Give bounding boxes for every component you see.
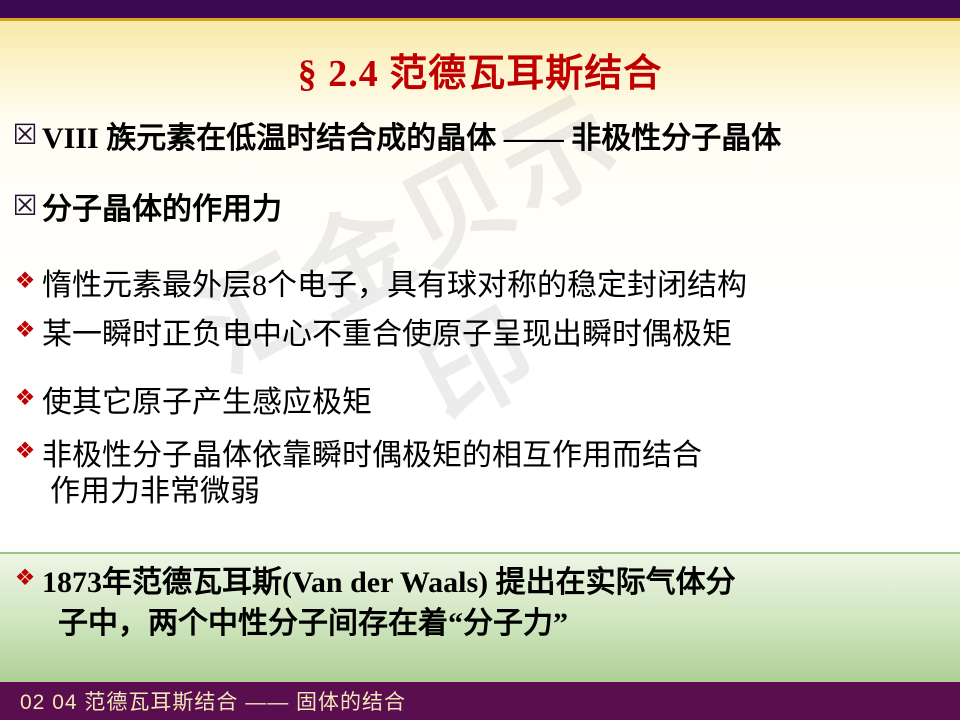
slide-canvas: 汇金贝示印 § 2.4 范德瓦耳斯结合 ☒ VIII 族元素在低温时结合成的晶体… (0, 0, 960, 720)
bullet-line-7: ❖ 1873年范德瓦耳斯(Van der Waals) 提出在实际气体分 (0, 566, 960, 601)
bullet-text-3: 惰性元素最外层8个电子，具有球对称的稳定封闭结构 (42, 269, 950, 304)
bullet-text-7-continued: 子中，两个中性分子间存在着“分子力” (58, 607, 950, 642)
bullet-line-5: ❖ 使其它原子产生感应极矩 (0, 386, 960, 421)
bullet-text-1: VIII 族元素在低温时结合成的晶体 —— 非极性分子晶体 (42, 122, 950, 157)
bullet-line-7-continued: 子中，两个中性分子间存在着“分子力” (0, 607, 960, 642)
bullet-line-1: ☒ VIII 族元素在低温时结合成的晶体 —— 非极性分子晶体 (0, 122, 960, 157)
top-decoration-bar (0, 0, 960, 18)
slide-body-lower: ❖ 1873年范德瓦耳斯(Van der Waals) 提出在实际气体分 子中，… (0, 566, 960, 641)
footer-label: 02 04 范德瓦耳斯结合 —— 固体的结合 (20, 686, 406, 716)
bullet-text-6: 非极性分子晶体依靠瞬时偶极矩的相互作用而结合 (42, 439, 950, 474)
bullet-text-5: 使其它原子产生感应极矩 (42, 386, 950, 421)
slide-body: ☒ VIII 族元素在低温时结合成的晶体 —— 非极性分子晶体 ☒ 分子晶体的作… (0, 108, 960, 510)
envelope-icon: ☒ (8, 122, 42, 150)
bullet-line-4: ❖ 某一瞬时正负电中心不重合使原子呈现出瞬时偶极矩 (0, 318, 960, 353)
bullet-text-4: 某一瞬时正负电中心不重合使原子呈现出瞬时偶极矩 (42, 318, 950, 353)
top-accent-line (0, 18, 960, 21)
bullet-text-6-continued: 作用力非常微弱 (50, 475, 950, 510)
bullet-text-2: 分子晶体的作用力 (42, 193, 950, 228)
bullet-line-2: ☒ 分子晶体的作用力 (0, 193, 960, 228)
page-title: § 2.4 范德瓦耳斯结合 (0, 42, 960, 97)
diamond-icon: ❖ (8, 269, 42, 292)
highlight-band-top-line (0, 552, 960, 554)
diamond-icon: ❖ (8, 566, 42, 589)
diamond-icon: ❖ (8, 439, 42, 462)
envelope-icon: ☒ (8, 193, 42, 221)
bullet-line-6-continued: 作用力非常微弱 (0, 475, 960, 510)
diamond-icon: ❖ (8, 318, 42, 341)
bullet-line-3: ❖ 惰性元素最外层8个电子，具有球对称的稳定封闭结构 (0, 269, 960, 304)
bullet-line-6: ❖ 非极性分子晶体依靠瞬时偶极矩的相互作用而结合 (0, 439, 960, 474)
bullet-text-7: 1873年范德瓦耳斯(Van der Waals) 提出在实际气体分 (42, 566, 950, 601)
diamond-icon: ❖ (8, 386, 42, 409)
